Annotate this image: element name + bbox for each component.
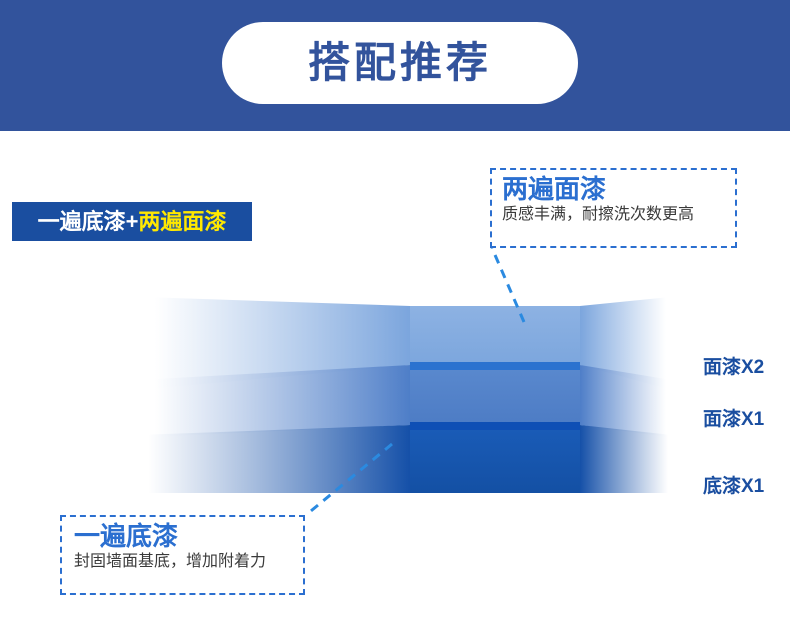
title-pill: 搭配推荐 <box>222 22 578 104</box>
side-label-topcoat-1: 面漆X1 <box>703 410 764 429</box>
side-label-topcoat-2: 面漆X2 <box>703 358 764 377</box>
callout-primer-heading: 一遍底漆 <box>74 523 303 550</box>
tag-primer-text: 一遍底漆+ <box>38 211 139 233</box>
left-wall-layers <box>83 295 410 493</box>
side-label-primer-1: 底漆X1 <box>703 477 764 496</box>
leader-line-primer <box>306 444 392 515</box>
right-wall-primer-1 <box>580 425 690 493</box>
callout-topcoat-subtext: 质感丰满，耐擦洗次数更高 <box>502 206 735 224</box>
back-wall-separator-upper <box>410 362 580 370</box>
tag-topcoat-text: 两遍面漆 <box>138 211 226 233</box>
callout-topcoat: 两遍面漆 质感丰满，耐擦洗次数更高 <box>490 168 737 248</box>
callout-primer: 一遍底漆 封固墙面基底，增加附着力 <box>60 515 305 595</box>
callout-topcoat-heading: 两遍面漆 <box>502 176 735 203</box>
callout-primer-subtext: 封固墙面基底，增加附着力 <box>74 553 303 571</box>
back-wall-primer-1 <box>410 425 580 493</box>
right-wall-topcoat-1 <box>580 365 690 440</box>
leader-line-topcoat <box>492 248 524 322</box>
back-wall-topcoat-1 <box>410 365 580 425</box>
page-title: 搭配推荐 <box>308 42 492 84</box>
left-wall-topcoat-2 <box>83 295 410 395</box>
right-wall-topcoat-2 <box>580 295 690 395</box>
paint-combo-tag: 一遍底漆+两遍面漆 <box>12 202 252 241</box>
left-wall-primer-1 <box>83 425 410 493</box>
left-wall-topcoat-1 <box>83 365 410 440</box>
header-banner: 搭配推荐 <box>0 0 790 131</box>
back-wall-separator-lower <box>410 422 580 430</box>
back-wall-layers <box>410 306 580 493</box>
back-wall-topcoat-2 <box>410 306 580 365</box>
right-wall-layers <box>580 295 690 493</box>
